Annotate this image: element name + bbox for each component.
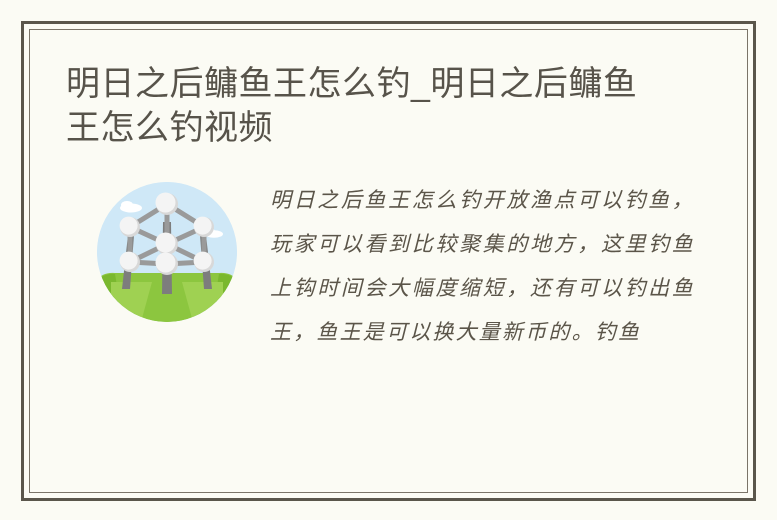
article-content: 明日之后鳙鱼王怎么钓_明日之后鳙鱼王怎么钓视频 <box>30 30 747 492</box>
inner-frame-border: 明日之后鳙鱼王怎么钓_明日之后鳙鱼王怎么钓视频 <box>29 29 748 493</box>
article-body-block: 明日之后鱼王怎么钓开放渔点可以钓鱼，玩家可以看到比较聚集的地方，这里钓鱼上钩时间… <box>66 178 711 375</box>
page-title: 明日之后鳙鱼王怎么钓_明日之后鳙鱼王怎么钓视频 <box>66 62 666 150</box>
outer-frame-border: 明日之后鳙鱼王怎么钓_明日之后鳙鱼王怎么钓视频 <box>21 21 756 501</box>
page-canvas: 明日之后鳙鱼王怎么钓_明日之后鳙鱼王怎么钓视频 <box>0 0 777 520</box>
article-body-text: 明日之后鱼王怎么钓开放渔点可以钓鱼，玩家可以看到比较聚集的地方，这里钓鱼上钩时间… <box>270 178 695 354</box>
atomium-landmark-illustration <box>97 182 237 322</box>
article-thumbnail[interactable] <box>97 182 237 322</box>
